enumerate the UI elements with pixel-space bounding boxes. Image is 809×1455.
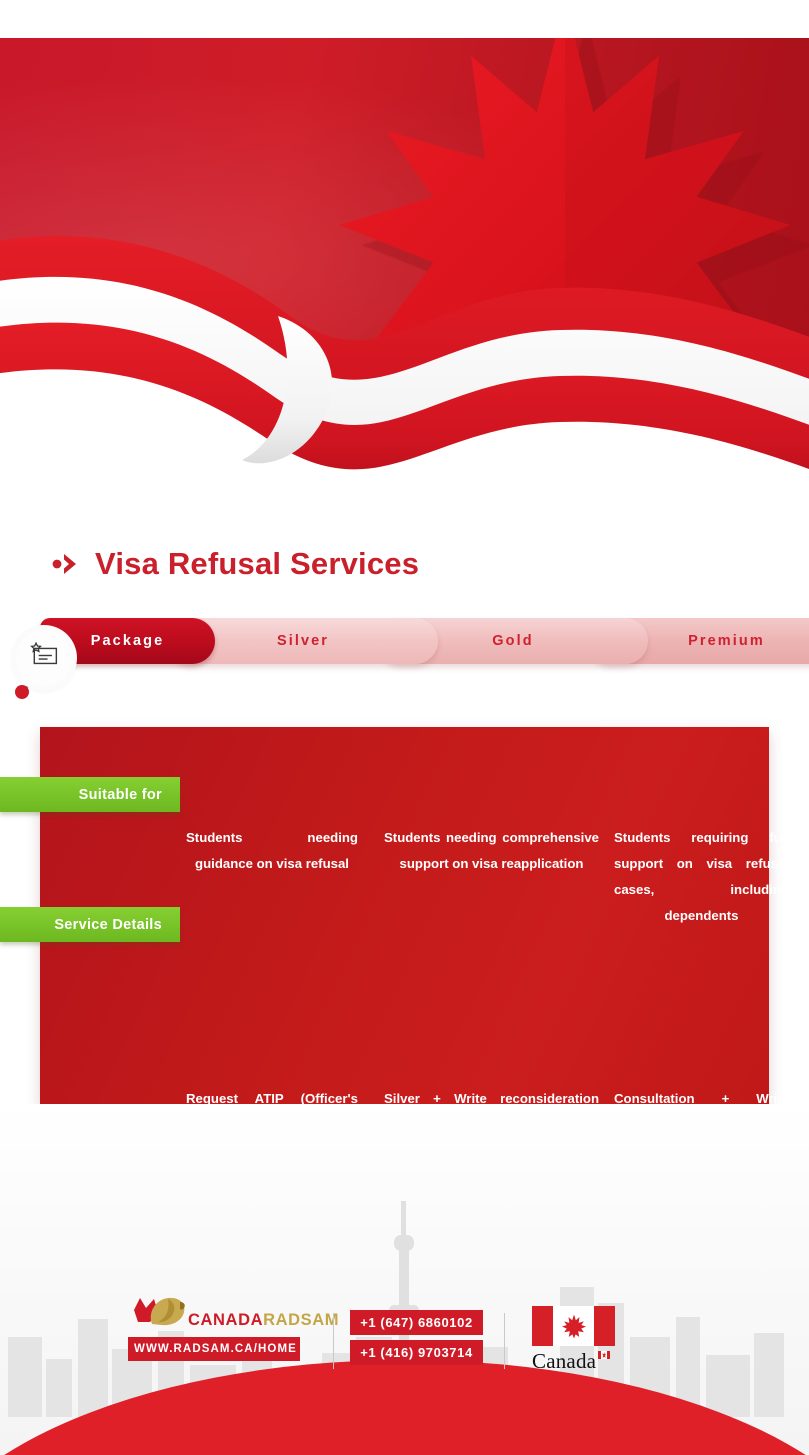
flag-left-bar — [532, 1306, 553, 1346]
column-header-premium-label: Premium — [688, 633, 765, 649]
canada-wordmark-text: Canada — [532, 1349, 596, 1373]
chevron-arrow-icon — [52, 550, 82, 578]
brand-wordmark-radsam: RADSAM — [263, 1311, 339, 1329]
canada-wordmark-text-wrap: Canada — [532, 1349, 596, 1374]
column-header-gold-label: Gold — [492, 633, 533, 649]
package-badge — [16, 630, 72, 686]
row-label-service-details-text: Service Details — [54, 917, 162, 933]
comparison-table: Suitable for Service Details Students ne… — [40, 727, 769, 1104]
table-cells: Students needing guidance on visa refusa… — [180, 727, 769, 1104]
footer-divider-1 — [333, 1313, 334, 1369]
canada-wordmark-block: Canada — [532, 1306, 627, 1374]
website-url[interactable]: WWW.RADSAM.CA/HOME — [128, 1337, 300, 1361]
cell-suitable-gold: Students needing comprehensive support o… — [384, 825, 599, 877]
column-header-silver-label: Silver — [277, 633, 329, 649]
cell-suitable-silver: Students needing guidance on visa refusa… — [186, 825, 358, 877]
flag-center-leaf — [553, 1306, 594, 1346]
row-label-service-details: Service Details — [0, 907, 180, 942]
contact-phone-list: +1 (647) 6860102 +1 (416) 9703714 — [350, 1310, 483, 1365]
package-header-row: Package Silver Gold Premium — [40, 618, 765, 664]
phone-number-2[interactable]: +1 (416) 9703714 — [350, 1340, 483, 1365]
canada-flag-icon — [532, 1306, 615, 1346]
hero-banner — [0, 0, 809, 520]
banner-top-white-strip — [0, 0, 809, 38]
row-label-suitable-for: Suitable for — [0, 777, 180, 812]
row-label-suitable-for-text: Suitable for — [79, 787, 162, 803]
package-label: Package — [91, 633, 165, 649]
footer-divider-2 — [504, 1313, 505, 1369]
brand-logo-block[interactable]: CANADARADSAM WWW.RADSAM.CA/HOME — [128, 1290, 318, 1361]
footer — [0, 1104, 809, 1455]
flag-ribbon-decoration — [0, 230, 809, 520]
canada-wordmark-mini-flag-icon — [598, 1351, 610, 1359]
swan-maple-leaf-logo-icon — [128, 1290, 190, 1332]
page-title: Visa Refusal Services — [95, 546, 419, 582]
phone-number-1[interactable]: +1 (647) 6860102 — [350, 1310, 483, 1335]
brand-wordmark-canada: CANADA — [188, 1311, 263, 1329]
flag-right-bar — [594, 1306, 615, 1346]
certificate-icon — [29, 642, 59, 674]
page-title-row: Visa Refusal Services — [52, 546, 419, 582]
brand-wordmark: CANADARADSAM — [188, 1311, 339, 1330]
logo-row: CANADARADSAM — [128, 1290, 318, 1332]
cell-suitable-premium: Students requiring full support on visa … — [614, 825, 789, 929]
